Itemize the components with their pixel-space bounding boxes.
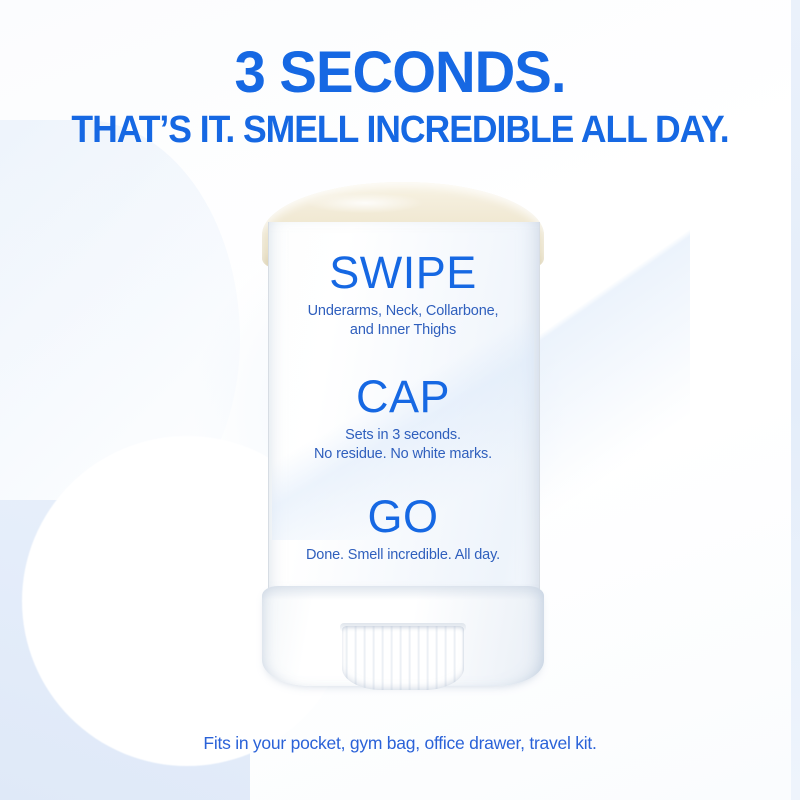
- step-swipe-subtitle: Underarms, Neck, Collarbone,and Inner Th…: [268, 302, 538, 340]
- step-cap-title: CAP: [268, 374, 538, 419]
- promo-image: 3 SECONDS. THAT’S IT. SMELL INCREDIBLE A…: [0, 0, 800, 800]
- headline-line-2: THAT’S IT. SMELL INCREDIBLE ALL DAY.: [26, 111, 774, 149]
- step-swipe-title: SWIPE: [268, 250, 538, 295]
- step-swipe: SWIPE Underarms, Neck, Collarbone,and In…: [268, 250, 538, 340]
- twist-dial: [342, 626, 464, 690]
- headline-line-1: 3 SECONDS.: [12, 44, 788, 102]
- footer-caption: Fits in your pocket, gym bag, office dra…: [0, 733, 800, 754]
- step-cap-subtitle: Sets in 3 seconds.No residue. No white m…: [268, 426, 538, 464]
- product-base-top-edge: [262, 586, 544, 600]
- step-go: GO Done. Smell incredible. All day.: [268, 494, 538, 565]
- product-deodorant-stick: SWIPE Underarms, Neck, Collarbone,and In…: [228, 160, 580, 720]
- step-go-subtitle: Done. Smell incredible. All day.: [268, 546, 538, 565]
- product-label-text: SWIPE Underarms, Neck, Collarbone,and In…: [268, 222, 538, 592]
- step-cap: CAP Sets in 3 seconds.No residue. No whi…: [268, 374, 538, 464]
- balm-highlight: [290, 190, 440, 216]
- step-go-title: GO: [268, 494, 538, 539]
- headline: 3 SECONDS. THAT’S IT. SMELL INCREDIBLE A…: [0, 44, 800, 149]
